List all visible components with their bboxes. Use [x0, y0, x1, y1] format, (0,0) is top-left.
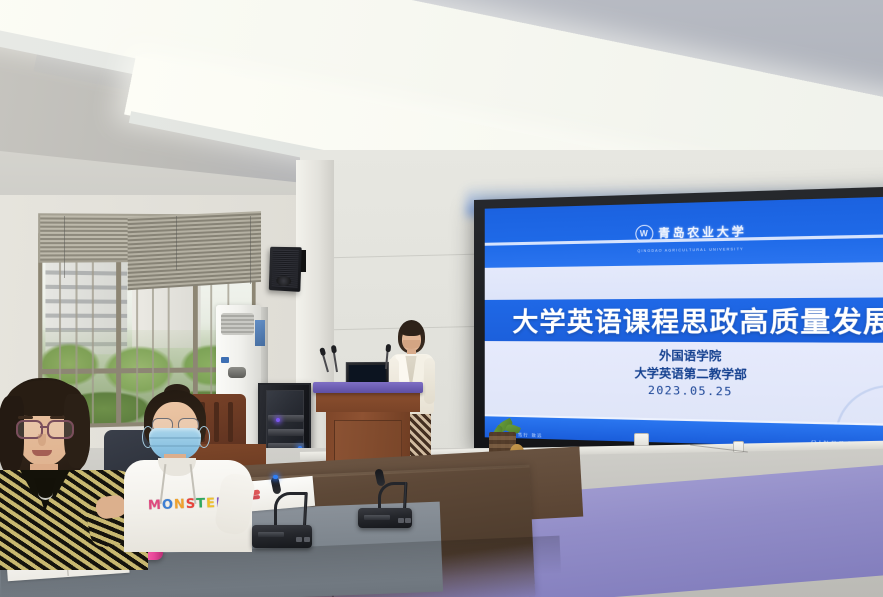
eyeglasses-icon — [47, 420, 74, 439]
eyeglasses-bridge — [40, 426, 47, 428]
shirt-print-letter: T — [196, 496, 205, 511]
attendee-1-mouth — [32, 450, 52, 456]
shirt-print-letter: O — [162, 497, 174, 512]
university-crest-icon: W — [635, 225, 653, 243]
microphone-base[interactable] — [358, 508, 412, 528]
microphone-button[interactable] — [304, 537, 310, 542]
blind-cord[interactable] — [64, 216, 65, 278]
screen-bezel: W 青岛农业大学 QINGDAO AGRICULTURAL UNIVERSITY… — [474, 186, 883, 462]
wall-speaker — [269, 247, 302, 292]
microphone-head-icon — [330, 345, 336, 354]
slide-upper-spacer — [485, 262, 883, 300]
microphone-label — [258, 532, 284, 537]
presenter-arm-right — [424, 358, 435, 404]
attendee-1-brow — [50, 416, 65, 419]
conference-room-photo: W 青岛农业大学 QINGDAO AGRICULTURAL UNIVERSITY… — [0, 0, 883, 597]
lectern-surface — [313, 382, 423, 393]
attendee-1 — [0, 378, 142, 558]
microphone-button[interactable] — [405, 518, 411, 523]
shirt-print-letter: M — [148, 497, 161, 512]
microphone-base[interactable] — [252, 525, 312, 548]
university-name: 青岛农业大学 — [658, 223, 746, 242]
attendee-2: MONSTER — [130, 390, 250, 550]
venetian-blinds-partial[interactable] — [128, 211, 261, 290]
necklace-icon — [38, 482, 53, 500]
wall-outlet[interactable] — [634, 433, 649, 446]
attendee-1-brow — [18, 416, 33, 419]
shirt-print-letter: E — [206, 496, 215, 511]
microphone-led-icon — [273, 475, 278, 479]
microphone-gooseneck — [274, 492, 307, 529]
shirt-print-letter: N — [174, 497, 185, 512]
presenter-fringe — [400, 323, 423, 336]
attendee-2-shirt-graphic: MONSTER — [152, 493, 223, 515]
slide-canvas: W 青岛农业大学 QINGDAO AGRICULTURAL UNIVERSITY… — [485, 196, 883, 450]
blind-cord[interactable] — [176, 216, 177, 270]
ac-label-icon — [255, 320, 265, 346]
shirt-print-letter: S — [186, 496, 196, 511]
presentation-display[interactable]: W 青岛农业大学 QINGDAO AGRICULTURAL UNIVERSITY… — [474, 186, 883, 462]
laptop-screen[interactable] — [349, 365, 386, 382]
microphone-label — [364, 515, 390, 520]
microphone-button[interactable] — [398, 518, 404, 523]
attendee-1-nose — [38, 434, 46, 446]
slide-title: 大学英语课程思政高质量发展研讨 — [485, 299, 883, 341]
ac-control-panel[interactable] — [228, 367, 246, 378]
slide-title-band: 大学英语课程思政高质量发展研讨 — [485, 297, 883, 343]
slide-body: 外国语学院 大学英语第二教学部 2023.05.25 — [485, 341, 883, 427]
blind-cord[interactable] — [250, 216, 251, 284]
microphone-head-icon — [385, 344, 391, 352]
rack-led-icon — [276, 418, 280, 422]
microphone-button[interactable] — [296, 537, 302, 542]
ac-badge-icon — [221, 357, 229, 363]
presenter-face-shading — [403, 340, 420, 349]
lectern-apron — [316, 392, 420, 412]
ac-vent-icon — [221, 313, 254, 335]
